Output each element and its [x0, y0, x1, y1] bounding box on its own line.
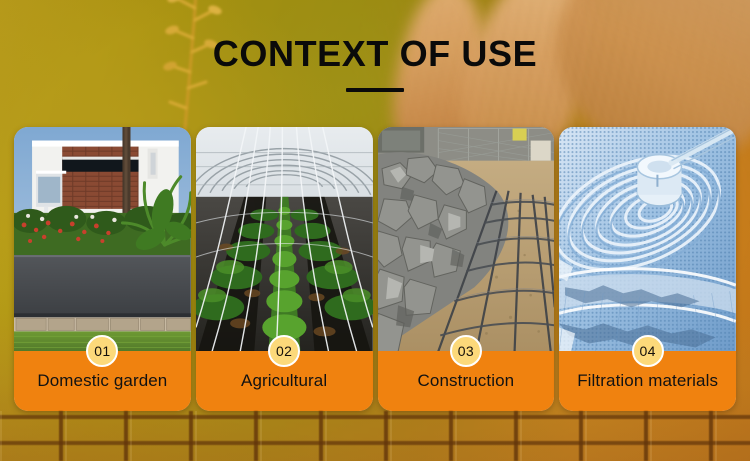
card-label: Construction [418, 371, 515, 391]
page-title: CONTEXT OF USE [0, 34, 750, 74]
title-underline-rule [346, 88, 404, 92]
title-block: CONTEXT OF USE [0, 34, 750, 92]
context-of-use-banner: CONTEXT OF USE [0, 0, 750, 461]
card-label: Domestic garden [37, 371, 167, 391]
context-card[interactable]: 03 Construction [378, 127, 555, 411]
card-number-badge: 02 [268, 335, 300, 367]
context-card[interactable]: 01 Domestic garden [14, 127, 191, 411]
context-card[interactable]: 04 Filtration materials [559, 127, 736, 411]
card-number-badge: 01 [86, 335, 118, 367]
agricultural-photo [196, 127, 373, 351]
card-label: Agricultural [241, 371, 327, 391]
wire-mesh-overlay [0, 411, 750, 461]
context-card-list: 01 Domestic garden [14, 127, 736, 411]
construction-photo [378, 127, 555, 351]
domestic-garden-photo [14, 127, 191, 351]
card-label: Filtration materials [577, 371, 718, 391]
card-number-badge: 03 [450, 335, 482, 367]
card-number-badge: 04 [632, 335, 664, 367]
context-card[interactable]: 02 Agricultural [196, 127, 373, 411]
filtration-materials-photo [559, 127, 736, 351]
